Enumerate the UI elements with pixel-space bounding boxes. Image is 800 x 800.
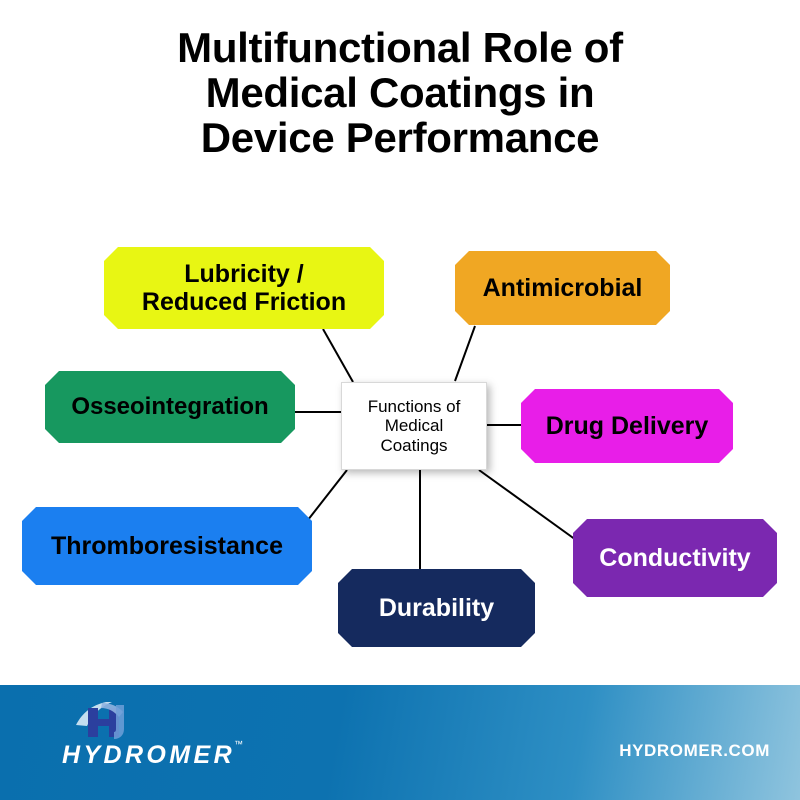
node-label: Thromboresistance [51,532,283,560]
node-label: Drug Delivery [546,412,709,440]
node-label: Osseointegration [71,394,268,421]
node-durability[interactable]: Durability [338,569,535,647]
connector-conductivity [479,470,583,545]
node-conductivity[interactable]: Conductivity [573,519,777,597]
node-label: Durability [379,594,494,622]
footer-bar: HYDROMER ™ HYDROMER.COM [0,685,800,800]
node-drug-delivery[interactable]: Drug Delivery [521,389,733,463]
footer-website-url[interactable]: HYDROMER.COM [619,741,770,761]
center-node[interactable]: Functions of Medical Coatings [341,382,487,470]
hydromer-wordmark: HYDROMER [62,741,235,770]
node-antimicrobial[interactable]: Antimicrobial [455,251,670,325]
connector-lubricity [323,329,353,382]
trademark-symbol: ™ [234,739,243,749]
node-label: Conductivity [599,544,750,572]
connector-antimicrobial [455,326,475,381]
mindmap-diagram: Lubricity / Reduced FrictionAntimicrobia… [0,0,800,690]
node-label: Antimicrobial [483,274,643,302]
hydromer-h-logo-icon [72,699,130,741]
node-thromboresistance[interactable]: Thromboresistance [22,507,312,585]
node-lubricity[interactable]: Lubricity / Reduced Friction [104,247,384,329]
center-node-label: Functions of Medical Coatings [368,397,461,456]
connector-thromboresistance [304,470,347,525]
node-label: Lubricity / Reduced Friction [142,260,346,316]
node-osseointegration[interactable]: Osseointegration [45,371,295,443]
infographic-page: Multifunctional Role of Medical Coatings… [0,0,800,800]
hydromer-logo[interactable]: HYDROMER ™ [62,697,282,785]
